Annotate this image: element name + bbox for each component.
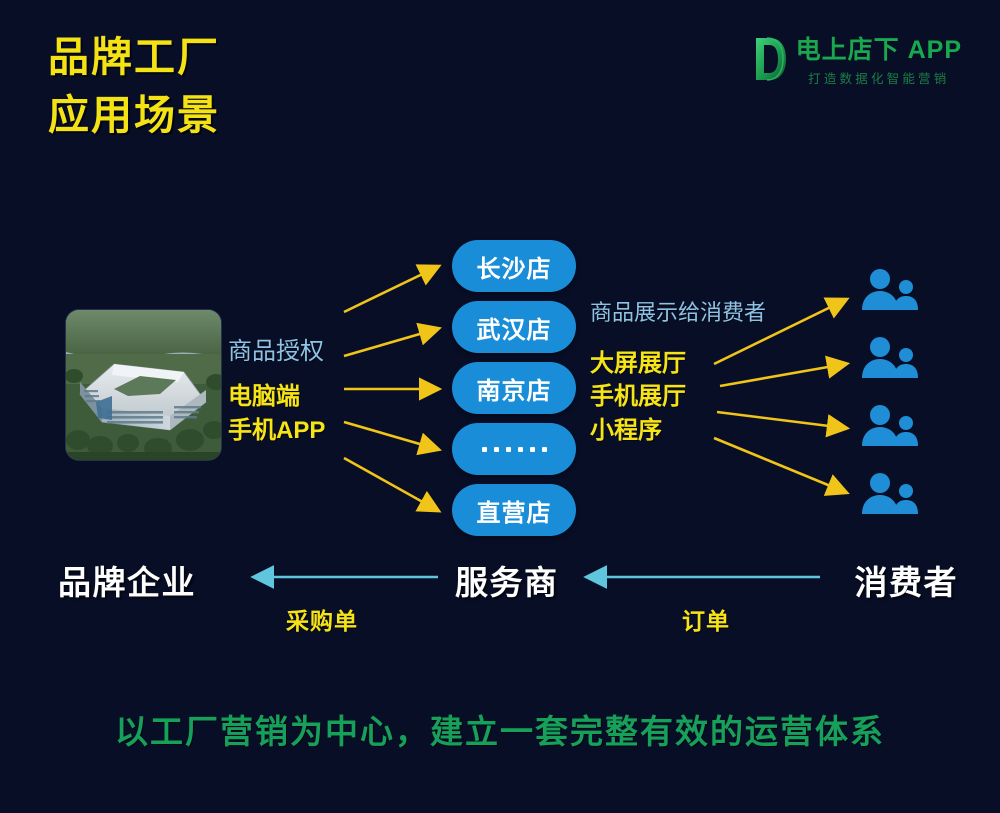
logo-name: 电上店下 APP xyxy=(796,30,962,66)
store-pill-direct[interactable]: 直营店 xyxy=(452,484,576,536)
flow-row: 品牌企业 服务商 消费者 采购单 订单 xyxy=(0,556,1000,628)
flow-caption-order: 订单 xyxy=(682,602,730,636)
label-product-authorization: 商品授权 xyxy=(228,335,325,369)
label-mobile-hall: 手机展厅 xyxy=(590,380,766,414)
brand-logo: 电上店下 APP 打造数据化智能营销 xyxy=(753,30,962,87)
flow-node-consumer: 消费者 xyxy=(855,556,959,604)
store-pill-list: 长沙店 武汉店 南京店 直营店 xyxy=(452,240,576,536)
page-title-line-2: 应用场景 xyxy=(48,86,220,144)
label-mini-program: 小程序 xyxy=(590,414,766,448)
store-pill-more[interactable] xyxy=(452,423,576,475)
label-mobile-app: 手机APP xyxy=(228,414,325,448)
people-group-icon xyxy=(858,404,920,448)
store-pill-changsha[interactable]: 长沙店 xyxy=(452,240,576,292)
people-group-icon xyxy=(858,336,920,380)
footer-tagline: 以工厂营销为中心，建立一套完整有效的运营体系 xyxy=(0,705,1000,753)
factory-photo xyxy=(66,310,221,460)
label-display-to-consumer: 商品展示给消费者 xyxy=(590,298,766,329)
middle-label-group: 商品展示给消费者 大屏展厅 手机展厅 小程序 xyxy=(590,298,766,448)
store-pill-nanjing[interactable]: 南京店 xyxy=(452,362,576,414)
store-pill-label: 长沙店 xyxy=(477,249,552,284)
left-fan-arrows xyxy=(344,267,437,510)
page-title-line-1: 品牌工厂 xyxy=(48,28,220,86)
store-pill-wuhan[interactable]: 武汉店 xyxy=(452,301,576,353)
flow-caption-purchase-order: 采购单 xyxy=(286,602,358,636)
store-pill-label: 南京店 xyxy=(477,371,552,406)
people-group-icon xyxy=(858,472,920,516)
people-group-icon xyxy=(858,268,920,312)
logo-d-icon xyxy=(753,35,787,83)
logo-text-block: 电上店下 APP 打造数据化智能营销 xyxy=(796,30,962,87)
infographic-canvas: 品牌工厂 应用场景 电上店下 APP 打造数据化智能营销 xyxy=(0,0,1000,813)
page-title: 品牌工厂 应用场景 xyxy=(48,28,220,144)
label-pc-client: 电脑端 xyxy=(228,380,325,414)
ellipsis-dots-icon xyxy=(482,447,547,452)
flow-node-service: 服务商 xyxy=(455,556,559,604)
flow-node-brand: 品牌企业 xyxy=(58,556,196,604)
store-pill-label: 武汉店 xyxy=(477,310,552,345)
left-label-group: 商品授权 电脑端 手机APP xyxy=(228,335,325,448)
consumer-icon-list xyxy=(858,268,920,516)
store-pill-label: 直营店 xyxy=(477,493,552,528)
label-big-screen-hall: 大屏展厅 xyxy=(590,347,766,381)
logo-tagline: 打造数据化智能营销 xyxy=(796,68,962,87)
